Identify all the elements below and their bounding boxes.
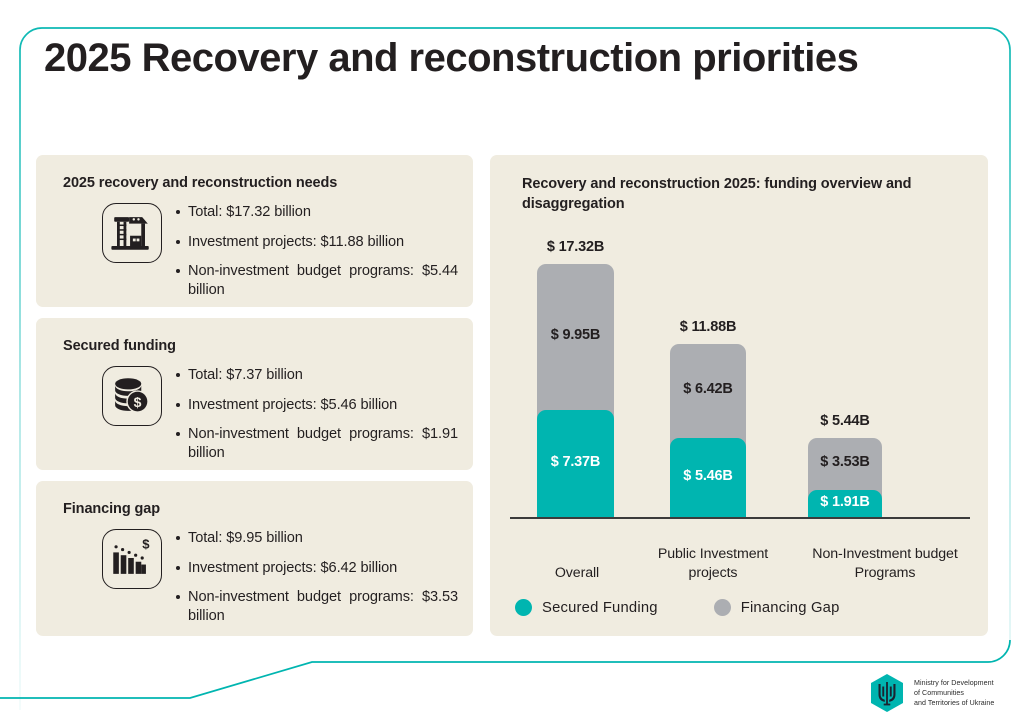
page-title: 2025 Recovery and reconstruction priorit… xyxy=(44,36,858,81)
legend-color-swatch xyxy=(515,599,532,616)
segment-label: $ 3.53B xyxy=(808,454,882,470)
list-item: Non-investment budget programs: $1.91 bi… xyxy=(176,425,458,462)
segment-label: $ 9.95B xyxy=(537,327,614,343)
footer-logo: Ministry for Development of Communities … xyxy=(869,673,994,713)
card-title: 2025 recovery and reconstruction needs xyxy=(63,175,337,191)
construction-crane-icon xyxy=(102,203,162,263)
x-axis-label-public-investment: Public Investment projects xyxy=(638,545,788,584)
card-bullet-list: Total: $17.32 billion Investment project… xyxy=(176,203,458,311)
bar-segment-secured-funding: $ 7.37B xyxy=(537,410,614,518)
list-item: Total: $9.95 billion xyxy=(176,529,458,548)
legend-label: Financing Gap xyxy=(741,600,840,616)
chart-panel: Recovery and reconstruction 2025: fundin… xyxy=(490,155,988,636)
segment-label: $ 7.37B xyxy=(537,454,614,470)
declining-bar-chart-dollar-icon: $ xyxy=(102,529,162,589)
bar-overall[interactable]: $ 17.32B $ 9.95B $ 7.37B xyxy=(537,264,614,518)
bar-total-label: $ 17.32B xyxy=(507,239,644,255)
legend-color-swatch xyxy=(714,599,731,616)
org-line-1: Ministry for Development xyxy=(914,678,994,688)
org-line-2: of Communities xyxy=(914,688,994,698)
list-item: Investment projects: $6.42 billion xyxy=(176,559,458,578)
stacked-bar-chart: $ 17.32B $ 9.95B $ 7.37B $ 11.88B $ 6.42… xyxy=(490,155,988,636)
card-title: Financing gap xyxy=(63,501,160,517)
x-axis-label-non-investment: Non-Investment budget Programs xyxy=(810,545,960,584)
org-line-3: and Territories of Ukraine xyxy=(914,698,994,708)
chart-legend: Secured Funding Financing Gap xyxy=(515,599,840,616)
bar-segment-secured-funding: $ 5.46B xyxy=(670,438,746,518)
footer-org-name: Ministry for Development of Communities … xyxy=(914,678,994,709)
bar-segment-secured-funding: $ 1.91B xyxy=(808,490,882,518)
bar-total-label: $ 11.88B xyxy=(640,319,776,335)
segment-label: $ 1.91B xyxy=(808,494,882,510)
bar-public-investment-projects[interactable]: $ 11.88B $ 6.42B $ 5.46B xyxy=(670,344,746,518)
card-recovery-needs: 2025 recovery and reconstruction needs xyxy=(36,155,473,307)
segment-label: $ 5.46B xyxy=(670,468,746,484)
list-item: Investment projects: $11.88 billion xyxy=(176,233,458,252)
card-secured-funding: Secured funding $ Total: $7.37 billion I… xyxy=(36,318,473,470)
card-financing-gap: Financing gap $ Total: $9.95 billion Inv… xyxy=(36,481,473,636)
ukraine-trident-emblem-icon xyxy=(869,673,905,713)
card-bullet-list: Total: $7.37 billion Investment projects… xyxy=(176,366,458,474)
x-axis-label-overall: Overall xyxy=(517,564,637,584)
coins-stack-dollar-icon: $ xyxy=(102,366,162,426)
list-item: Non-investment budget programs: $3.53 bi… xyxy=(176,588,458,625)
segment-label: $ 6.42B xyxy=(670,381,746,397)
legend-label: Secured Funding xyxy=(542,600,658,616)
list-item: Total: $7.37 billion xyxy=(176,366,458,385)
legend-item-financing-gap[interactable]: Financing Gap xyxy=(714,599,840,616)
legend-item-secured-funding[interactable]: Secured Funding xyxy=(515,599,658,616)
list-item: Total: $17.32 billion xyxy=(176,203,458,222)
bar-non-investment-budget-programs[interactable]: $ 5.44B $ 3.53B $ 1.91B xyxy=(808,438,882,518)
svg-text:$: $ xyxy=(142,537,150,552)
list-item: Investment projects: $5.46 billion xyxy=(176,396,458,415)
x-axis-line xyxy=(510,517,970,519)
bar-total-label: $ 5.44B xyxy=(778,413,912,429)
list-item: Non-investment budget programs: $5.44 bi… xyxy=(176,262,458,299)
svg-text:$: $ xyxy=(134,394,142,410)
card-bullet-list: Total: $9.95 billion Investment projects… xyxy=(176,529,458,637)
card-title: Secured funding xyxy=(63,338,176,354)
